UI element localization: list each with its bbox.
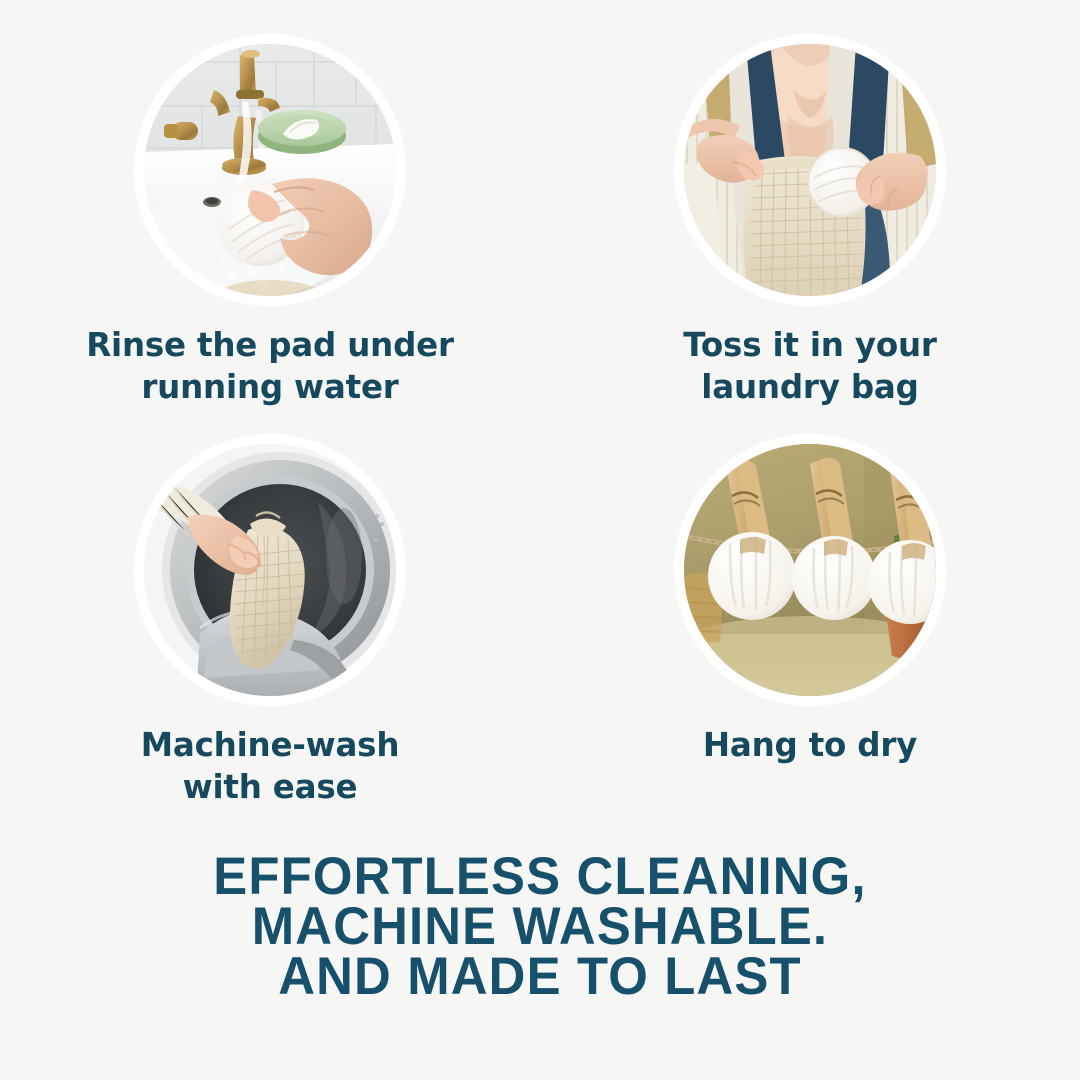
machine-wash-bag-photo [144, 444, 396, 696]
caption-line: Rinse the pad under [86, 324, 454, 366]
page-headline: EFFORTLESS CLEANING, MACHINE WASHABLE. A… [0, 852, 1080, 1002]
step-caption-rinse: Rinse the pad under running water [86, 324, 454, 408]
caption-line: running water [86, 366, 454, 408]
headline-line-3: AND MADE TO LAST [22, 952, 1059, 1002]
step-card-toss: Toss it in your laundry bag [540, 34, 1080, 434]
caption-line: Toss it in your [683, 324, 936, 366]
caption-line: Hang to dry [703, 724, 917, 766]
toss-pad-in-laundry-bag-photo [684, 44, 936, 296]
caption-line: Machine-wash [141, 724, 400, 766]
step-caption-hang-dry: Hang to dry [703, 724, 917, 766]
photo-ring-rinse [134, 34, 406, 306]
step-card-rinse: Rinse the pad under running water [0, 34, 540, 434]
product-infographic-page: { "page": { "background_color": "#f6f6f5… [0, 0, 1080, 1080]
headline-line-1: EFFORTLESS CLEANING, [22, 852, 1059, 902]
caption-line: laundry bag [683, 366, 936, 408]
step-caption-machine-wash: Machine-wash with ease [141, 724, 400, 808]
steps-grid: Rinse the pad under running water [0, 34, 1080, 834]
step-card-machine-wash: Machine-wash with ease [0, 434, 540, 834]
rinse-pad-under-faucet-photo [144, 44, 396, 296]
step-caption-toss: Toss it in your laundry bag [683, 324, 936, 408]
headline-line-2: MACHINE WASHABLE. [22, 902, 1059, 952]
step-card-hang-dry: Hang to dry [540, 434, 1080, 834]
hang-to-dry-photo [684, 444, 936, 696]
caption-line: with ease [141, 766, 400, 808]
photo-ring-toss [674, 34, 946, 306]
photo-ring-hang-dry [674, 434, 946, 706]
photo-ring-machine-wash [134, 434, 406, 706]
